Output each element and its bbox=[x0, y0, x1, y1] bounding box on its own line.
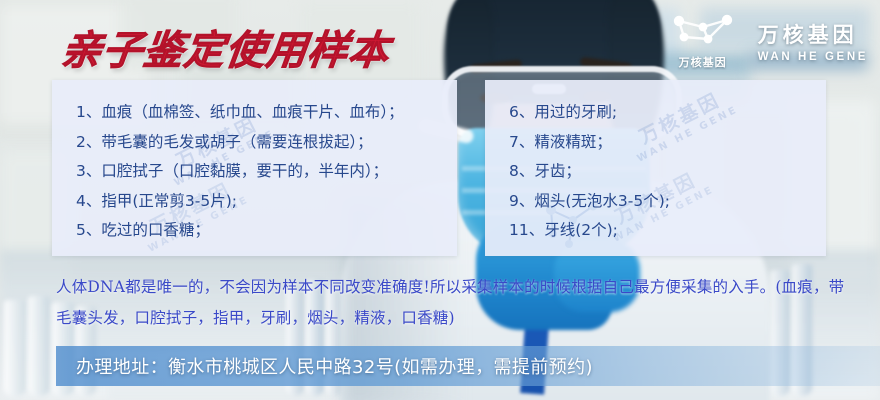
list-item: 11、牙线(2个); bbox=[509, 216, 826, 246]
sample-list-left: 1、血痕（血棉签、纸巾血、血痕干片、血布）； 2、带毛囊的毛发或胡子（需要连根拔… bbox=[52, 80, 457, 246]
list-item: 3、口腔拭子（口腔黏膜，要干的，半年内）； bbox=[76, 157, 457, 187]
sample-list-panel-right: 万核基因 WAN HE GENE 万核基因 WAN HE GENE bbox=[485, 80, 826, 256]
list-item: 2、带毛囊的毛发或胡子（需要连根拔起）； bbox=[76, 128, 457, 158]
list-item: 5、吃过的口香糖； bbox=[76, 216, 457, 246]
brand-name-en: WAN HE GENE bbox=[758, 51, 868, 63]
address-text: 办理地址：衡水市桃城区人民中路32号(如需办理，需提前预约) bbox=[56, 353, 593, 379]
list-item: 1、血痕（血棉签、纸巾血、血痕干片、血布）； bbox=[76, 98, 457, 128]
list-item: 7、精液精斑； bbox=[509, 128, 826, 158]
list-item: 9、烟头(无泡水3-5个); bbox=[509, 187, 826, 217]
list-item: 8、牙齿； bbox=[509, 157, 826, 187]
sample-list-panel-left: 万核基因 WAN HE GENE 万核基因 WAN HE GENE 1、血痕（血… bbox=[52, 80, 457, 256]
brand-logo: 万核基因 万核基因 WAN HE GENE bbox=[670, 12, 868, 70]
brand-text: 万核基因 WAN HE GENE bbox=[758, 19, 868, 63]
list-item: 6、用过的牙刷; bbox=[509, 98, 826, 128]
dna-molecule-icon bbox=[670, 12, 736, 51]
list-item: 4、指甲(正常剪3-5片); bbox=[76, 187, 457, 217]
address-band: 办理地址：衡水市桃城区人民中路32号(如需办理，需提前预约) bbox=[56, 346, 880, 386]
bg-test-tube bbox=[28, 296, 50, 396]
page-title: 亲子鉴定使用样本 bbox=[58, 18, 393, 76]
panel-inner: 万核基因 WAN HE GENE 万核基因 WAN HE GENE bbox=[485, 80, 826, 256]
description-paragraph: 人体DNA都是唯一的，不会因为样本不同改变准确度!所以采集样本的时候根据自己最方… bbox=[56, 272, 856, 334]
poster-canvas: 亲子鉴定使用样本 bbox=[0, 0, 880, 400]
sample-list-right: 6、用过的牙刷; 7、精液精斑； 8、牙齿； 9、烟头(无泡水3-5个); 11… bbox=[485, 80, 826, 246]
brand-mark: 万核基因 bbox=[670, 12, 736, 70]
brand-name-cn: 万核基因 bbox=[758, 19, 868, 49]
brand-mark-label: 万核基因 bbox=[679, 54, 727, 70]
panel-inner: 万核基因 WAN HE GENE 万核基因 WAN HE GENE 1、血痕（血… bbox=[52, 80, 457, 256]
bg-test-tube bbox=[4, 300, 26, 396]
